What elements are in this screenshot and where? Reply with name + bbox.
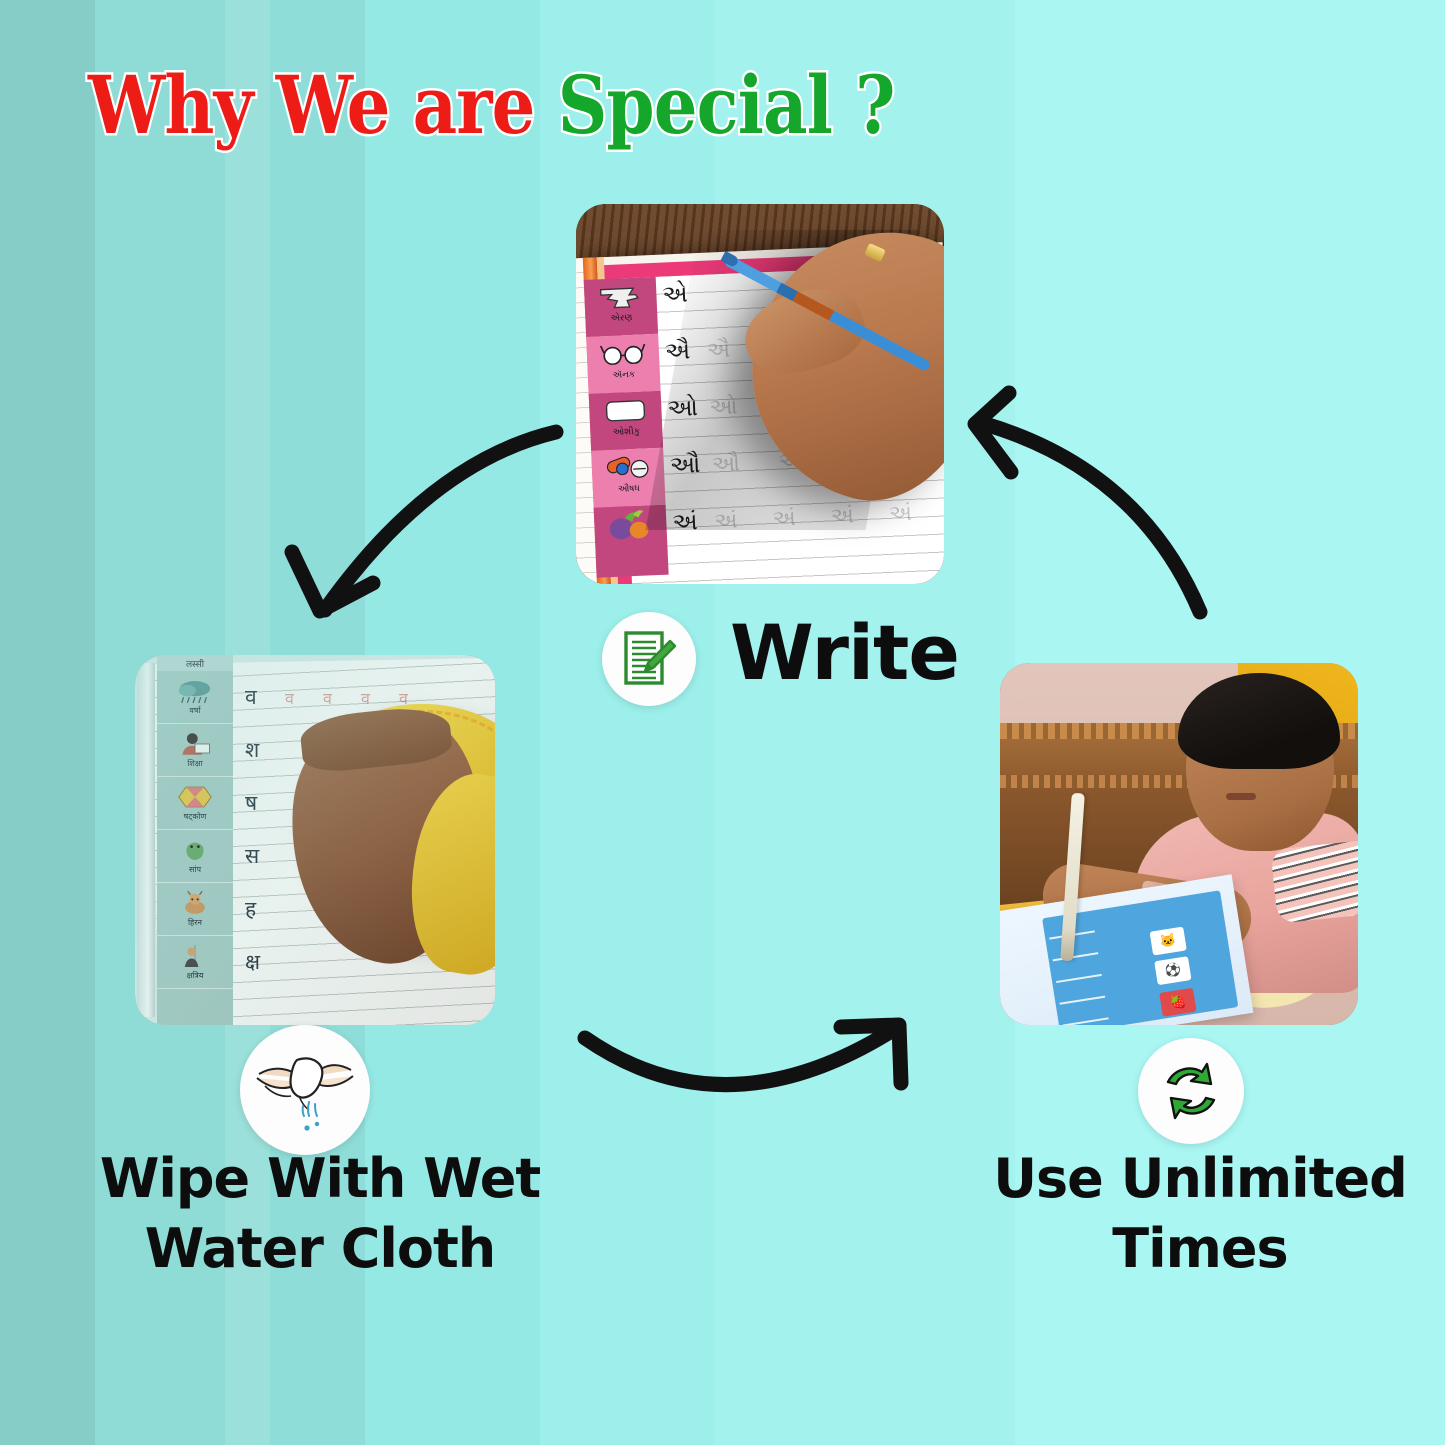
label-wipe-line1: Wipe With Wet — [60, 1144, 580, 1214]
pillow-icon — [599, 394, 652, 426]
label-wipe-line2: Water Cloth — [60, 1214, 580, 1284]
wringing-wet-cloth-icon — [253, 1044, 357, 1136]
anvil-icon — [594, 280, 647, 312]
practice-tile: 🐱 — [1150, 927, 1187, 956]
wipe-icon-badge — [240, 1025, 370, 1155]
glasses-icon — [596, 337, 649, 369]
arrow-wipe-to-reuse-head — [841, 1025, 901, 1083]
document-pencil-icon — [617, 627, 681, 691]
arrow-reuse-to-write-head — [975, 393, 1011, 472]
workbook-row-cell: ઓશીકુ — [589, 391, 663, 451]
recycle-arrows-icon — [1154, 1054, 1228, 1128]
workbook-row-cell: ઍનક — [586, 334, 660, 394]
workbook-row-caption: ઔષધ — [618, 484, 640, 495]
title-text-accent: Special ? — [558, 58, 895, 152]
page-title: Why We are Special ? — [88, 58, 895, 152]
reuse-icon-badge — [1138, 1038, 1244, 1144]
workbook-row-caption: ઍનક — [612, 370, 635, 381]
medicine-icon — [601, 451, 654, 483]
practice-tile: ⚽ — [1154, 956, 1191, 985]
practice-rule-line — [1059, 996, 1105, 1005]
workbook-row-caption: ઓશીકુ — [613, 427, 641, 438]
label-reuse: Use Unlimited Times — [960, 1144, 1440, 1284]
photo-reuse-step: ⚽ 🐱 🍓 — [1000, 663, 1358, 1025]
practice-rule-line — [1056, 974, 1102, 983]
label-reuse-line2: Times — [960, 1214, 1440, 1284]
workbook-row-cell: એરણ — [584, 277, 658, 337]
label-wipe: Wipe With Wet Water Cloth — [60, 1144, 580, 1284]
practice-tile: 🍓 — [1159, 988, 1196, 1017]
write-icon-badge — [602, 612, 696, 706]
practice-rule-line — [1063, 1017, 1109, 1025]
mouth — [1226, 793, 1256, 800]
arrow-reuse-to-write — [985, 424, 1200, 612]
title-text-primary: Why We are — [88, 58, 558, 152]
practice-rule-line — [1053, 952, 1099, 961]
arrow-wipe-to-reuse — [585, 1030, 893, 1085]
label-reuse-line1: Use Unlimited — [960, 1144, 1440, 1214]
photo-write-step: એરણ ઍનક ઓશીકુ — [576, 204, 944, 584]
photo-wipe-step: लस्सी वर्षा शिक्षा षट्कोण — [135, 655, 495, 1025]
arrow-write-to-wipe-head — [292, 552, 373, 611]
arrow-write-to-wipe — [325, 432, 556, 610]
label-write: Write — [730, 608, 959, 697]
photo-color-wash — [135, 655, 495, 1025]
shirt-sleeve-stripes — [1270, 840, 1358, 923]
workbook-row-caption: એરણ — [610, 313, 632, 324]
